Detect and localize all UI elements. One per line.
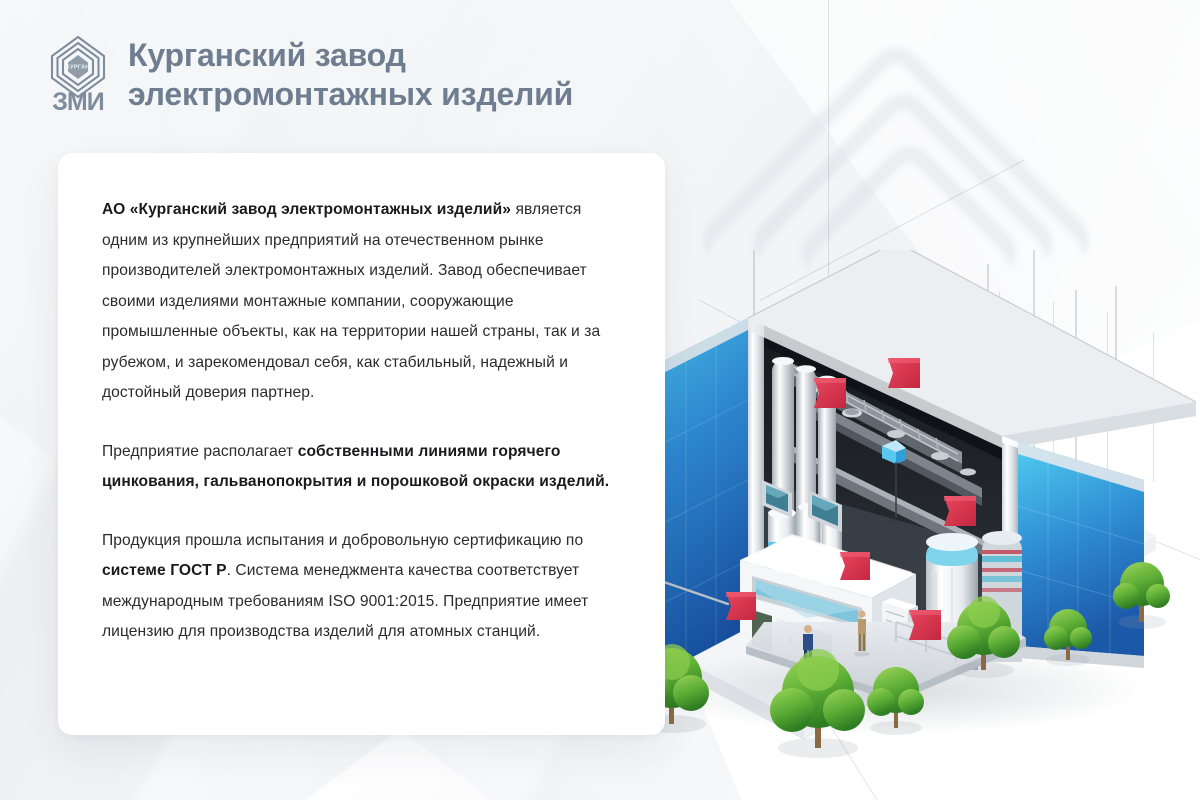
paragraph-certification: Продукция прошла испытания и добровольну… [102,526,621,648]
paragraph-capabilities: Предприятие располагает собственными лин… [102,437,621,498]
plant-illustration [596,250,1200,770]
about-company-card: АО «Курганский завод электромонтажных из… [58,153,665,735]
company-logo[interactable]: КУРГАН ЗМИ [48,34,108,116]
paragraph-capabilities-lead: Предприятие располагает [102,443,298,460]
slide-root: КУРГАН ЗМИ Курганский завод электромонта… [0,0,1200,800]
paragraph-certification-lead: Продукция прошла испытания и добровольну… [102,532,583,549]
logo-letters: ЗМИ [52,88,103,116]
company-legal-name: АО «Курганский завод электромонтажных из… [102,201,511,218]
gost-highlight: системе ГОСТ Р [102,562,227,579]
page-title: Курганский завод электромонтажных издели… [128,36,573,114]
page-header: КУРГАН ЗМИ Курганский завод электромонта… [48,34,573,116]
paragraph-intro-text: является одним из крупнейших предприятий… [102,201,600,401]
paragraph-intro: АО «Курганский завод электромонтажных из… [102,195,621,409]
logo-inner-text: КУРГАН [66,64,89,70]
